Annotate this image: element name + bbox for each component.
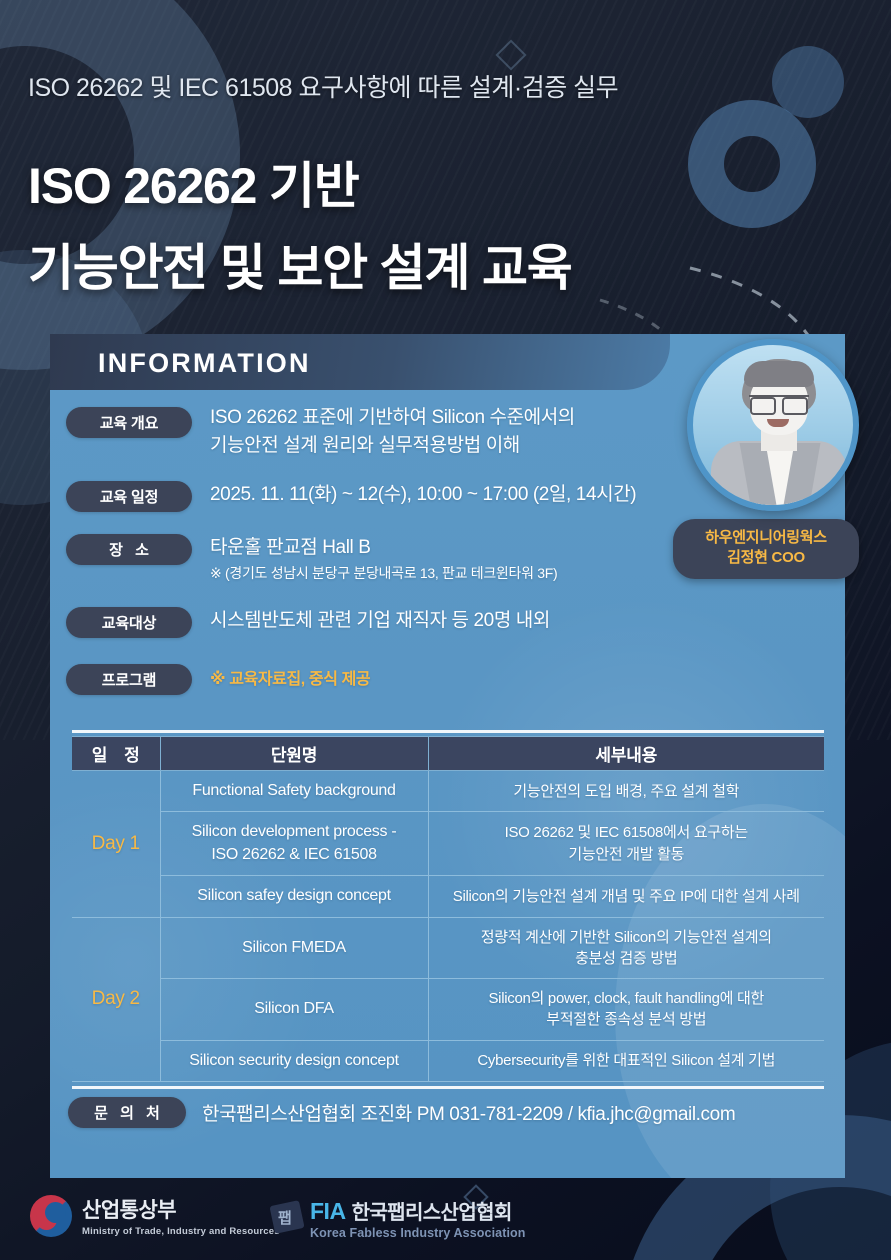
fia-title-row: FIA 한국팹리스산업협회 xyxy=(310,1196,526,1225)
logo-ministry-of-trade: 산업통상부 Ministry of Trade, Industry and Re… xyxy=(30,1194,280,1237)
avatar-glasses-icon xyxy=(749,395,809,410)
table-cell-detail: 정량적 계산에 기반한 Silicon의 기능안전 설계의충분성 검증 방법 xyxy=(428,917,824,979)
info-value-place-note: ※ (경기도 성남시 분당구 분당내곡로 13, 판교 테크윈타워 3F) xyxy=(210,563,557,583)
schedule-table-body: Day 1Functional Safety background기능안전의 도… xyxy=(72,771,824,1082)
ministry-text-block: 산업통상부 Ministry of Trade, Industry and Re… xyxy=(82,1194,280,1237)
table-cell-detail: 기능안전의 도입 배경, 주요 설계 철학 xyxy=(428,771,824,812)
fia-name-kr: 한국팹리스산업협회 xyxy=(352,1196,512,1225)
ministry-name-kr: 산업통상부 xyxy=(82,1194,280,1224)
poster-root: ISO 26262 및 IEC 61508 요구사항에 따른 설계·검증 실무 … xyxy=(0,0,891,1260)
table-row: Silicon safey design conceptSilicon의 기능안… xyxy=(72,876,824,917)
taegeuk-icon xyxy=(30,1195,72,1237)
table-col-header-unit: 단원명 xyxy=(160,737,428,771)
table-row: Day 1Functional Safety background기능안전의 도… xyxy=(72,771,824,812)
table-cell-detail: Silicon의 power, clock, fault handling에 대… xyxy=(428,979,824,1041)
poster-kicker: ISO 26262 및 IEC 61508 요구사항에 따른 설계·검증 실무 xyxy=(28,68,618,104)
schedule-table: 일 정 단원명 세부내용 Day 1Functional Safety back… xyxy=(72,736,824,1082)
poster-title-line-1: ISO 26262 기반 xyxy=(28,146,359,218)
info-row-program: 프로그램 ※ 교육자료집, 중식 제공 xyxy=(50,666,845,695)
table-cell-day: Day 1 xyxy=(72,771,160,918)
table-cell-detail: Cybersecurity를 위한 대표적인 Silicon 설계 기법 xyxy=(428,1040,824,1081)
info-value-overview-line2: 기능안전 설계 원리와 실무적용방법 이해 xyxy=(210,435,520,456)
poster-title-line-2: 기능안전 및 보안 설계 교육 xyxy=(28,228,572,300)
table-cell-unit: Silicon development process -ISO 26262 &… xyxy=(160,812,428,876)
table-header-row: 일 정 단원명 세부내용 xyxy=(72,737,824,771)
info-label-schedule: 교육 일정 xyxy=(66,481,192,512)
speaker-name-role: 김정현 COO xyxy=(679,548,853,568)
table-bottom-rule xyxy=(72,1086,824,1089)
info-value-target: 시스템반도체 관련 기업 재직자 등 20명 내외 xyxy=(192,607,550,635)
table-row: Silicon security design conceptCybersecu… xyxy=(72,1040,824,1081)
ministry-name-en: Ministry of Trade, Industry and Resource… xyxy=(82,1226,280,1237)
info-value-overview: ISO 26262 표준에 기반하여 Silicon 수준에서의 기능안전 설계… xyxy=(192,404,575,459)
contact-label: 문 의 처 xyxy=(68,1097,186,1128)
table-row: Silicon development process -ISO 26262 &… xyxy=(72,812,824,876)
info-value-place-main: 타운홀 판교점 Hall B xyxy=(210,537,371,558)
decorative-ring-top-right xyxy=(688,100,816,228)
table-row: Silicon DFASilicon의 power, clock, fault … xyxy=(72,979,824,1041)
contact-row: 문 의 처 한국팹리스산업협회 조진화 PM 031-781-2209 / kf… xyxy=(68,1097,735,1128)
fia-name-en: Korea Fabless Industry Association xyxy=(310,1226,526,1240)
avatar-fringe xyxy=(744,361,814,387)
info-label-overview: 교육 개요 xyxy=(66,407,192,438)
logo-fia: 팹 FIA 한국팹리스산업협회 Korea Fabless Industry A… xyxy=(272,1196,526,1240)
table-cell-detail: Silicon의 기능안전 설계 개념 및 주요 IP에 대한 설계 사례 xyxy=(428,876,824,917)
info-value-place: 타운홀 판교점 Hall B ※ (경기도 성남시 분당구 분당내곡로 13, … xyxy=(192,534,557,583)
table-cell-unit: Silicon DFA xyxy=(160,979,428,1041)
speaker-company: 하우엔지니어링웍스 xyxy=(679,528,853,548)
contact-text: 한국팹리스산업협회 조진화 PM 031-781-2209 / kfia.jhc… xyxy=(202,1099,735,1126)
table-col-header-detail: 세부내용 xyxy=(428,737,824,771)
info-label-target: 교육대상 xyxy=(66,607,192,638)
info-label-program: 프로그램 xyxy=(66,664,192,695)
table-cell-unit: Silicon security design concept xyxy=(160,1040,428,1081)
info-label-place: 장 소 xyxy=(66,534,192,565)
schedule-table-wrapper: 일 정 단원명 세부내용 Day 1Functional Safety back… xyxy=(72,736,824,1082)
table-cell-unit: Silicon FMEDA xyxy=(160,917,428,979)
footer-logos: 산업통상부 Ministry of Trade, Industry and Re… xyxy=(0,1190,891,1260)
table-cell-detail: ISO 26262 및 IEC 61508에서 요구하는기능안전 개발 활동 xyxy=(428,812,824,876)
fia-text-block: FIA 한국팹리스산업협회 Korea Fabless Industry Ass… xyxy=(310,1196,526,1240)
fia-glyph: 팹 xyxy=(278,1207,292,1228)
table-row: Day 2Silicon FMEDA정량적 계산에 기반한 Silicon의 기… xyxy=(72,917,824,979)
fia-mark-icon: 팹 xyxy=(272,1203,308,1233)
speaker-avatar xyxy=(687,339,859,511)
speaker-block: 하우엔지니어링웍스 김정현 COO xyxy=(673,339,873,579)
table-top-rule xyxy=(72,730,824,733)
decorative-circle-top-right xyxy=(772,46,844,118)
info-row-target: 교육대상 시스템반도체 관련 기업 재직자 등 20명 내외 xyxy=(50,607,845,638)
speaker-badge: 하우엔지니어링웍스 김정현 COO xyxy=(673,519,859,579)
table-cell-unit: Functional Safety background xyxy=(160,771,428,812)
info-value-program: ※ 교육자료집, 중식 제공 xyxy=(192,666,370,691)
information-header-title: INFORMATION xyxy=(98,348,311,379)
table-col-header-day: 일 정 xyxy=(72,737,160,771)
fia-abbr: FIA xyxy=(310,1198,346,1225)
info-value-schedule: 2025. 11. 11(화) ~ 12(수), 10:00 ~ 17:00 (… xyxy=(192,481,636,509)
decorative-diamond-icon xyxy=(495,39,526,70)
table-cell-day: Day 2 xyxy=(72,917,160,1082)
info-value-overview-line1: ISO 26262 표준에 기반하여 Silicon 수준에서의 xyxy=(210,407,575,428)
table-cell-unit: Silicon safey design concept xyxy=(160,876,428,917)
